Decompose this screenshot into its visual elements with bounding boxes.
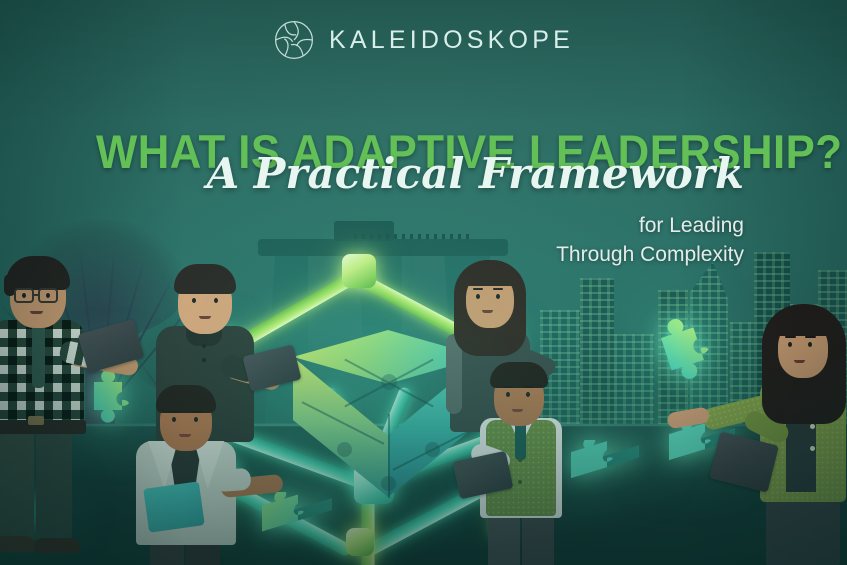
person-man-labcoat	[134, 385, 264, 565]
poster-canvas: KALEIDOSKOPE WHAT IS ADAPTIVE LEADERSHIP…	[0, 0, 847, 565]
subtitle-script: A Practical Framework	[207, 153, 744, 195]
person-woman-olive-jacket	[752, 298, 847, 565]
person-man-glasses-plaid	[0, 248, 128, 565]
subtitle-line-1: for Leading	[556, 212, 744, 241]
puzzle-piece-floor-center	[254, 492, 340, 552]
node-bottom	[346, 528, 374, 556]
person-man-vest	[470, 362, 580, 565]
node-top	[342, 254, 376, 288]
subtitle-block: for Leading Through Complexity	[556, 212, 744, 269]
brand-wordmark: KALEIDOSKOPE	[329, 26, 574, 55]
brand-logo[interactable]: KALEIDOSKOPE	[0, 19, 847, 61]
puzzle-piece-right-upper	[652, 306, 730, 380]
subtitle-line-2: Through Complexity	[556, 241, 744, 270]
aperture-icon	[273, 19, 315, 61]
